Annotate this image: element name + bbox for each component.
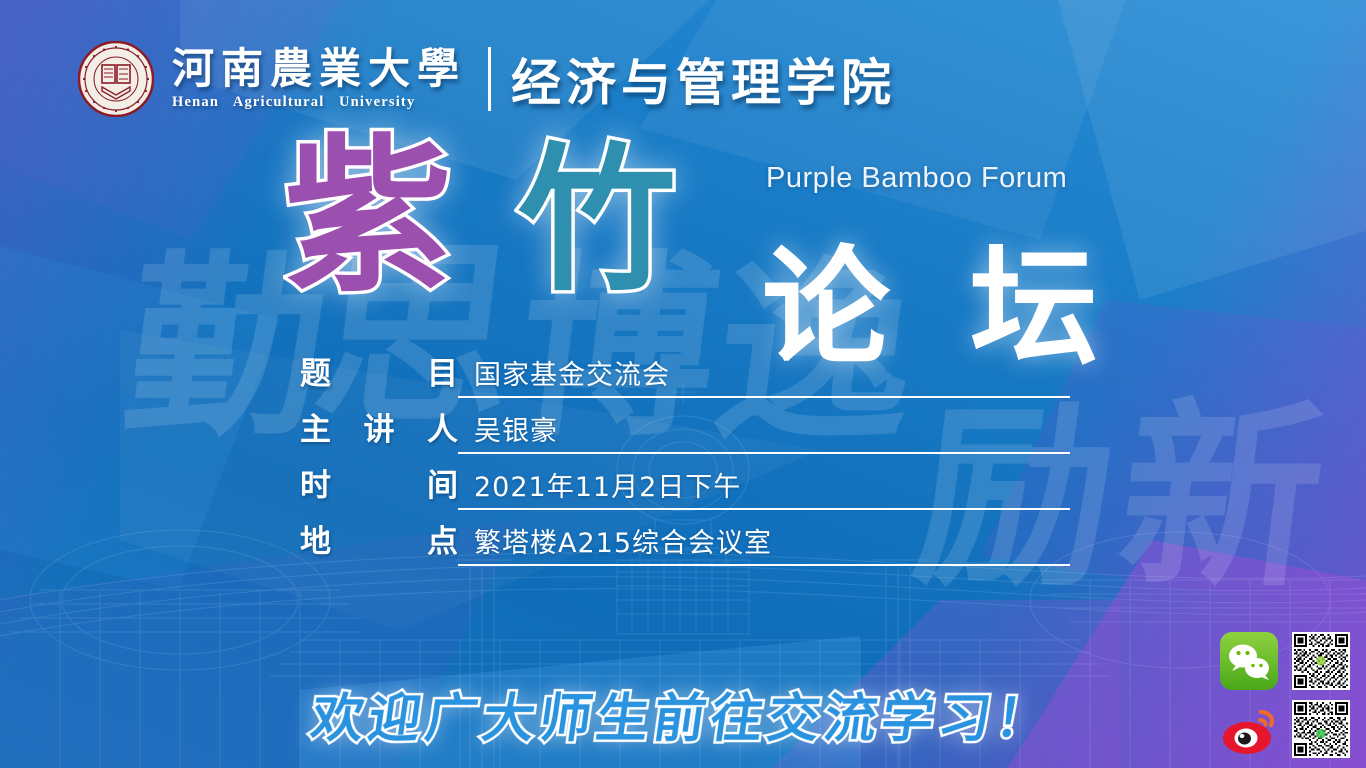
info-field-location[interactable]: 繁塔楼A215综合会议室 <box>458 526 1070 566</box>
weibo-icon[interactable] <box>1220 700 1278 758</box>
info-value-location: 繁塔楼A215综合会议室 <box>474 528 772 559</box>
welcome-slogan: 欢迎广大师生前往交流学习！ <box>0 676 1366 751</box>
forum-title: 紫 竹 论 坛 Purple Bamboo Forum <box>280 126 1090 326</box>
title-char-zhu: 竹 <box>518 142 676 300</box>
info-row-time: 时间 2021年11月2日下午 <box>300 454 1070 510</box>
info-value-speaker: 吴银豪 <box>474 416 558 447</box>
social-media-block <box>1220 632 1350 758</box>
info-label-time: 时间 <box>300 460 458 510</box>
university-name-cn: 河南農業大學 <box>172 47 466 91</box>
title-char-zi: 紫 <box>284 132 452 300</box>
info-row-title: 题目 国家基金交流会 <box>300 342 1070 398</box>
header: 河南農業大學 Henan Agricultural University 经济与… <box>78 33 896 125</box>
university-seal-icon <box>78 41 154 117</box>
university-name-block: 河南農業大學 Henan Agricultural University <box>172 47 466 111</box>
info-value-time: 2021年11月2日下午 <box>474 472 741 503</box>
info-row-speaker: 主讲人 吴银豪 <box>300 398 1070 454</box>
university-name-en: Henan Agricultural University <box>172 94 466 111</box>
info-row-location: 地点 繁塔楼A215综合会议室 <box>300 510 1070 566</box>
info-field-speaker[interactable]: 吴银豪 <box>458 414 1070 454</box>
wechat-qr-code[interactable] <box>1292 632 1350 690</box>
info-field-time[interactable]: 2021年11月2日下午 <box>458 470 1070 510</box>
event-info-form: 题目 国家基金交流会 主讲人 吴银豪 时间 2021年11月2日下午 地点 繁塔… <box>300 342 1070 566</box>
forum-title-english: Purple Bamboo Forum <box>766 162 1067 195</box>
info-label-title: 题目 <box>300 348 458 398</box>
poster-root: 勤 思 博 逸 励 新 <box>0 0 1366 768</box>
wechat-icon[interactable] <box>1220 632 1278 690</box>
college-name: 经济与管理学院 <box>511 43 896 115</box>
weibo-qr-code[interactable] <box>1292 700 1350 758</box>
header-divider <box>488 47 491 111</box>
info-label-location: 地点 <box>300 516 458 566</box>
info-label-speaker: 主讲人 <box>300 404 458 454</box>
social-icons-column <box>1220 632 1278 758</box>
info-field-title[interactable]: 国家基金交流会 <box>458 358 1070 398</box>
info-value-title: 国家基金交流会 <box>474 360 670 391</box>
qr-codes-column <box>1292 632 1350 758</box>
